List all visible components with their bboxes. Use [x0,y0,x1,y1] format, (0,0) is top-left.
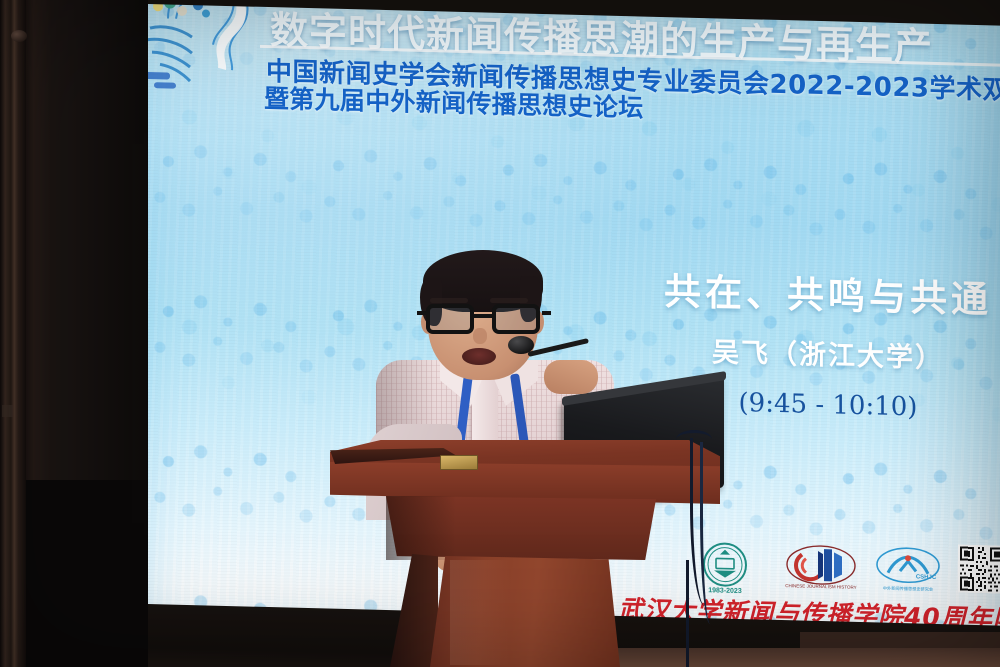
cshjc-association-logo: CSHJC 中外新闻传播思想史研究会 [872,544,944,594]
svg-text:CSHJC: CSHJC [916,574,937,581]
podium-column-side [390,554,438,667]
session-speaker: 吴飞（浙江大学） [638,328,1000,377]
eyebrow-right [490,298,528,303]
podium [330,436,720,667]
session-title: 共在、共鸣与共通 [638,260,1000,324]
conference-photo: 数字时代新闻传播思潮的生产与再生产 中国新闻史学会新闻传播思想史专业委员会202… [0,0,1000,667]
floor-shadow [800,632,1000,648]
microphone-icon [508,336,534,354]
mouth [462,348,496,365]
right-hand [544,360,598,394]
wall-lower-shadow [26,480,152,667]
left-wall [0,0,152,667]
qr-code [958,545,1000,594]
cable-2 [700,442,717,624]
wall-trim [0,0,26,667]
microphone-boom [527,338,589,357]
svg-text:中外新闻传播思想史研究会: 中外新闻传播思想史研究会 [883,585,934,593]
nose [473,328,487,344]
chinese-journalism-history-society-logo: CHINESE JOURNALISM HISTORY [784,542,858,592]
podium-nameplate [440,455,478,470]
wall-fixture-icon [11,30,27,42]
svg-text:CHINESE JOURNALISM HISTORY: CHINESE JOURNALISM HISTORY [785,583,856,590]
eyebrow-left [430,298,468,303]
wall-plate [2,405,13,417]
cable-3 [686,560,699,667]
